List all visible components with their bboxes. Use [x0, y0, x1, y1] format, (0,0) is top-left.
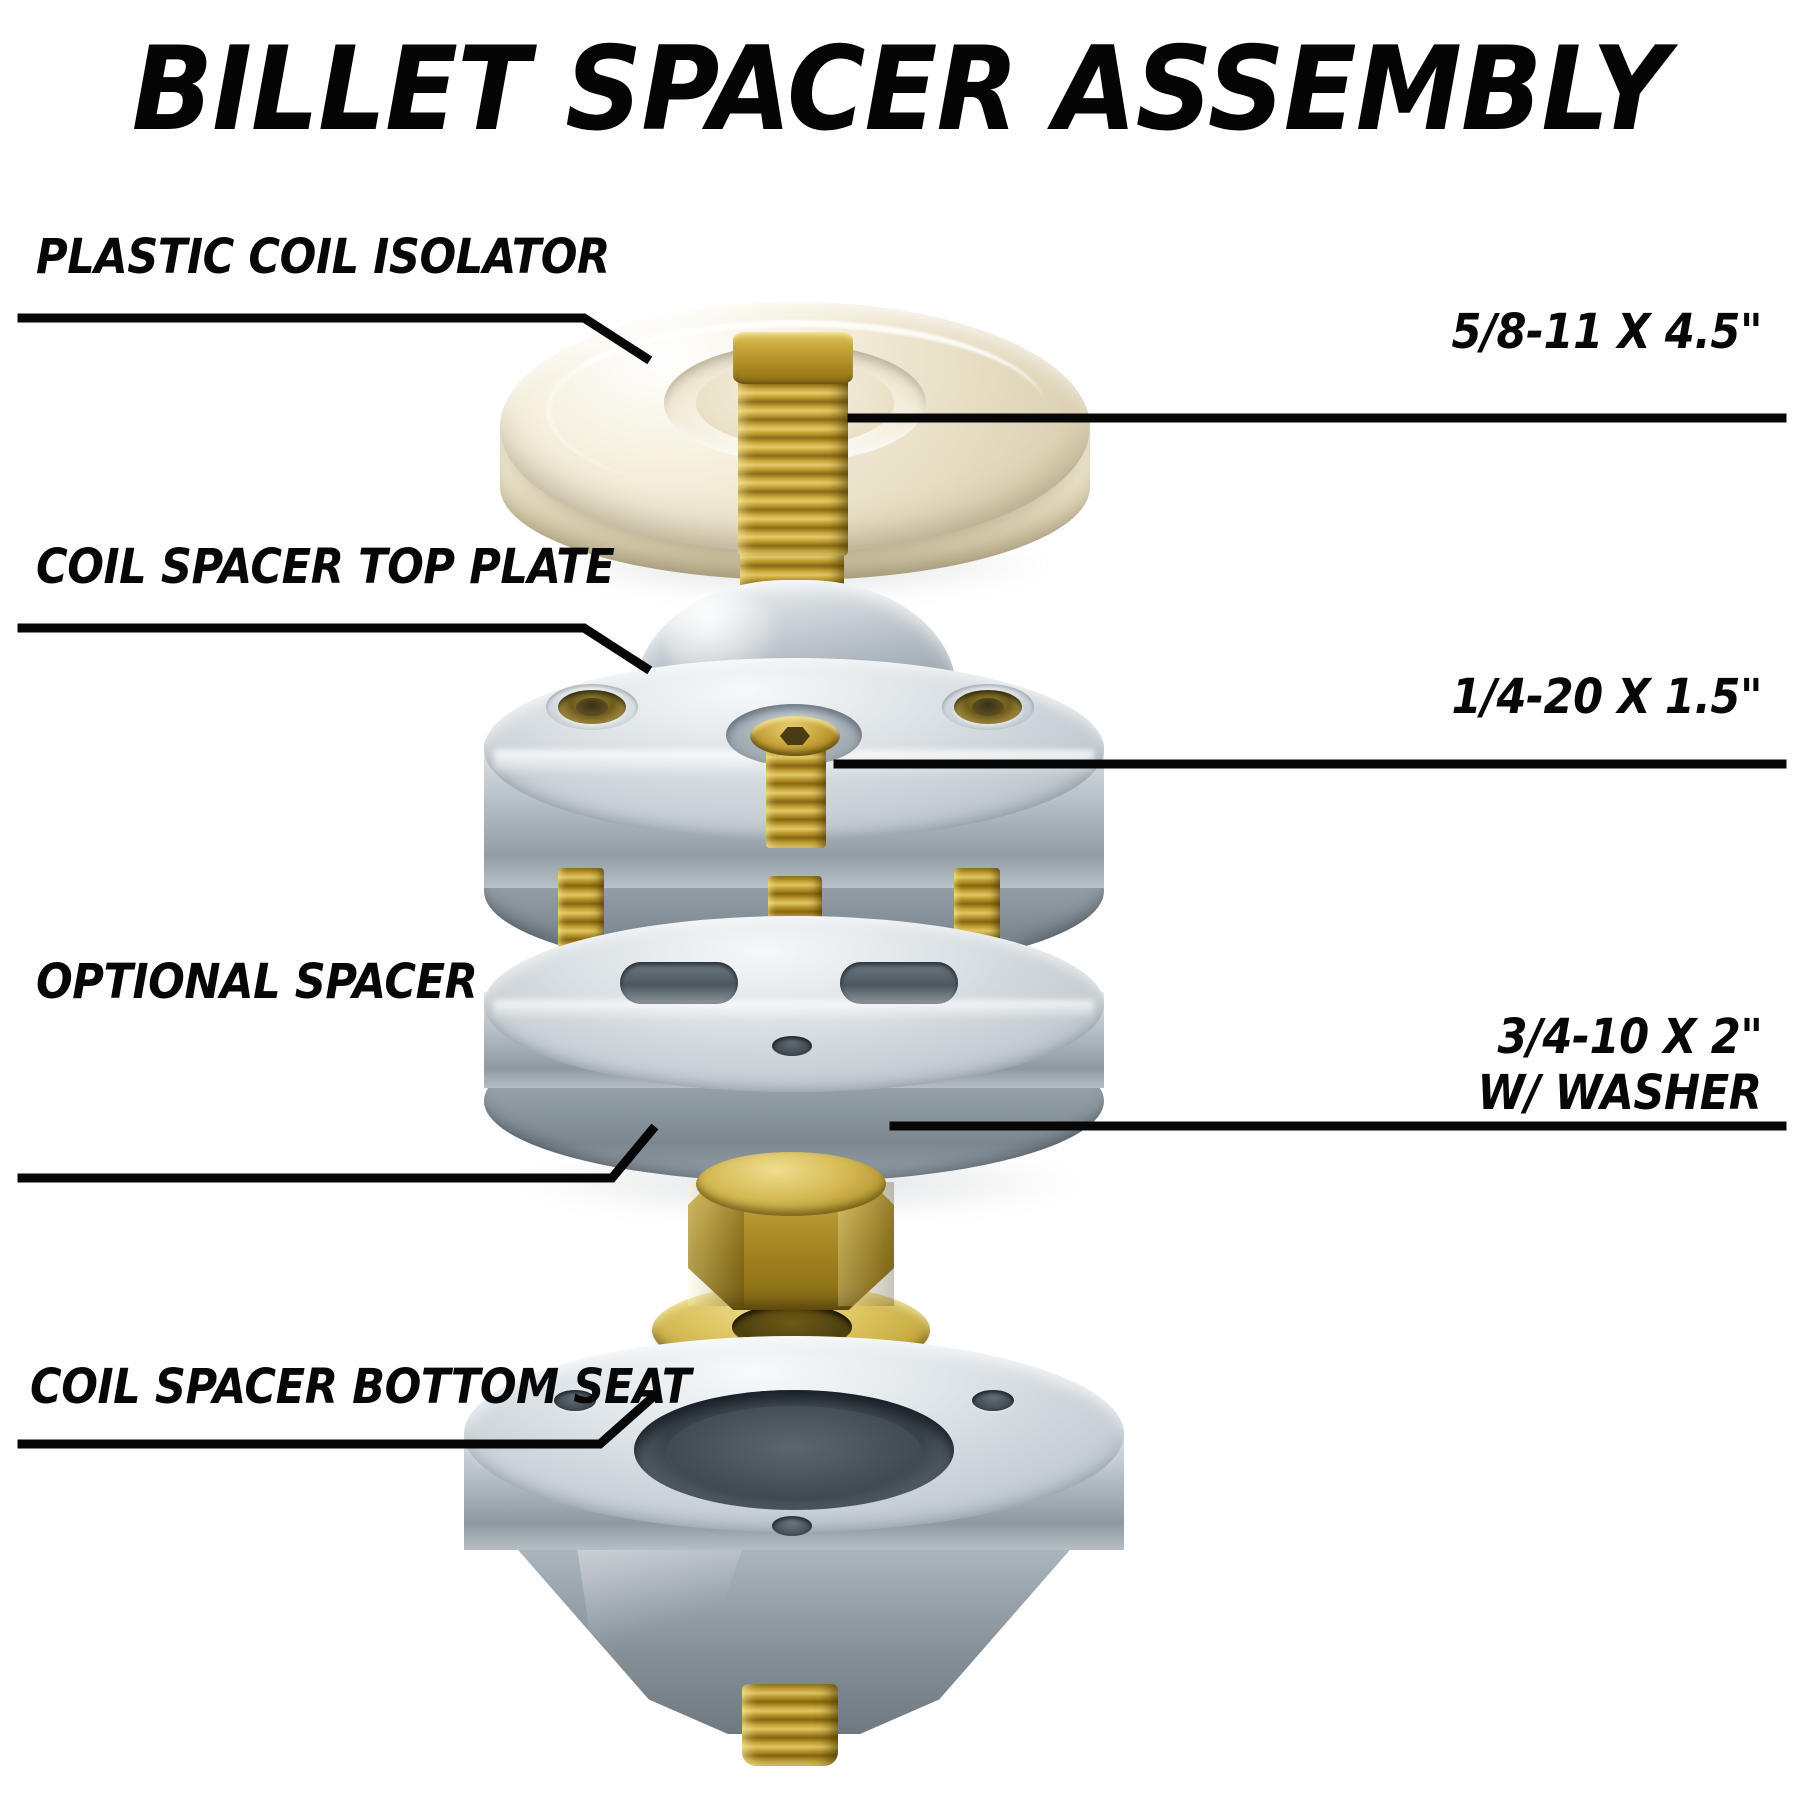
diagram-canvas: BILLET SPACER ASSEMBLY	[0, 0, 1800, 1800]
spacer-slot-right	[840, 962, 958, 1004]
callout-bolt-3-4-10-line1: 3/4-10 X 2"	[1497, 1012, 1762, 1063]
callout-bolt-1-4-20: 1/4-20 X 1.5"	[1451, 672, 1762, 723]
bottom-seat-stud	[742, 1684, 838, 1766]
page-title: BILLET SPACER ASSEMBLY	[72, 22, 1728, 157]
callout-optional-spacer: OPTIONAL SPACER	[36, 957, 477, 1008]
spacer-slot-left	[620, 962, 738, 1004]
countersunk-hole-right	[954, 690, 1022, 724]
bottom-seat-hole-front	[772, 1516, 812, 1536]
spacer-hole-center	[772, 1036, 812, 1056]
countersunk-hole-left	[558, 690, 626, 724]
callout-bolt-3-4-10-line2: W/ WASHER	[1478, 1068, 1762, 1119]
exploded-assembly-illustration	[450, 280, 1130, 1740]
callout-coil-spacer-bottom-seat: COIL SPACER BOTTOM SEAT	[30, 1362, 691, 1413]
callout-plastic-coil-isolator: PLASTIC COIL ISOLATOR	[36, 232, 610, 283]
callout-coil-spacer-top-plate: COIL SPACER TOP PLATE	[36, 542, 614, 593]
bottom-seat-hole-right	[972, 1390, 1014, 1411]
callout-bolt-5-8-11: 5/8-11 X 4.5"	[1451, 307, 1762, 358]
